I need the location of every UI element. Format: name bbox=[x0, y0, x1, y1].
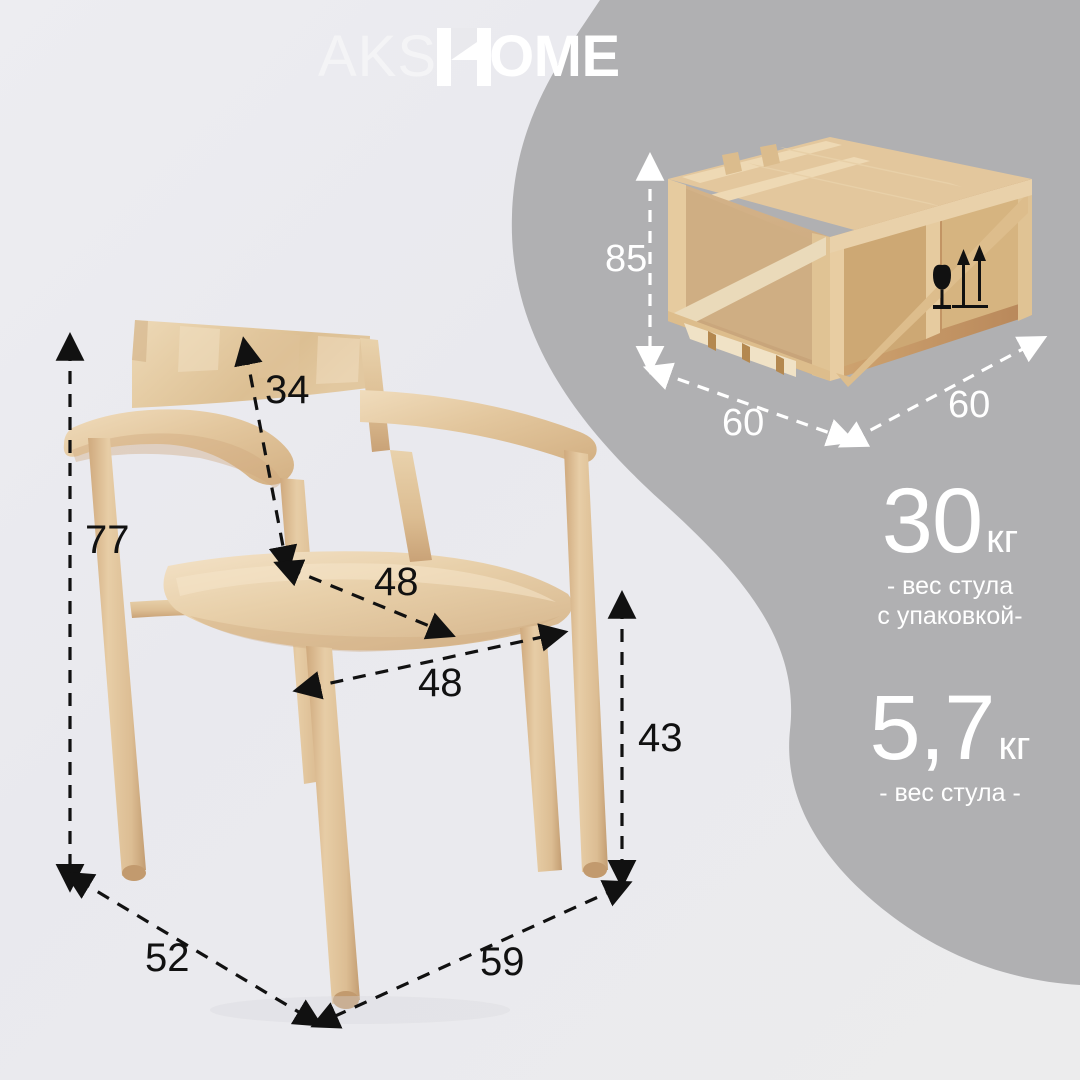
dim-label-height-total: 77 bbox=[85, 520, 130, 560]
weight-net-block: 5,7 кг - вес стула - bbox=[800, 685, 1080, 808]
dim-label-back-height: 34 bbox=[265, 370, 310, 410]
weight-gross-block: 30 кг - вес стула с упаковкой- bbox=[800, 478, 1080, 631]
logo-home-group: OME bbox=[437, 28, 620, 86]
crate-illustration bbox=[630, 125, 1050, 415]
weight-gross-value-row: 30 кг bbox=[800, 478, 1080, 565]
weight-net-caption-line1: - вес стула - bbox=[800, 778, 1080, 808]
infographic-canvas: AKS OME bbox=[0, 0, 1080, 1080]
dim-label-footprint-width: 59 bbox=[480, 942, 525, 982]
dim-label-crate-depth: 60 bbox=[948, 386, 990, 424]
dim-label-seat-depth: 48 bbox=[374, 562, 419, 602]
dim-label-crate-height: 85 bbox=[605, 240, 647, 278]
weight-net-value-row: 5,7 кг bbox=[800, 685, 1080, 772]
dim-label-seat-height: 43 bbox=[638, 718, 683, 758]
logo-text-ome: OME bbox=[489, 28, 620, 86]
weight-gross-value: 30 bbox=[882, 478, 982, 565]
dim-label-footprint-depth: 52 bbox=[145, 938, 190, 978]
weight-gross-unit: кг bbox=[986, 519, 1018, 559]
weight-net-unit: кг bbox=[998, 726, 1030, 766]
brand-logo: AKS OME bbox=[318, 28, 620, 86]
dim-label-seat-width: 48 bbox=[418, 663, 463, 703]
weight-net-value: 5,7 bbox=[870, 685, 995, 772]
dim-label-crate-width: 60 bbox=[722, 404, 764, 442]
logo-text-aks: AKS bbox=[318, 28, 437, 86]
logo-h-glyph-icon bbox=[437, 28, 491, 86]
chair-illustration bbox=[60, 310, 680, 1040]
weight-gross-caption-line2: с упаковкой- bbox=[800, 601, 1080, 631]
weight-gross-caption-line1: - вес стула bbox=[800, 571, 1080, 601]
